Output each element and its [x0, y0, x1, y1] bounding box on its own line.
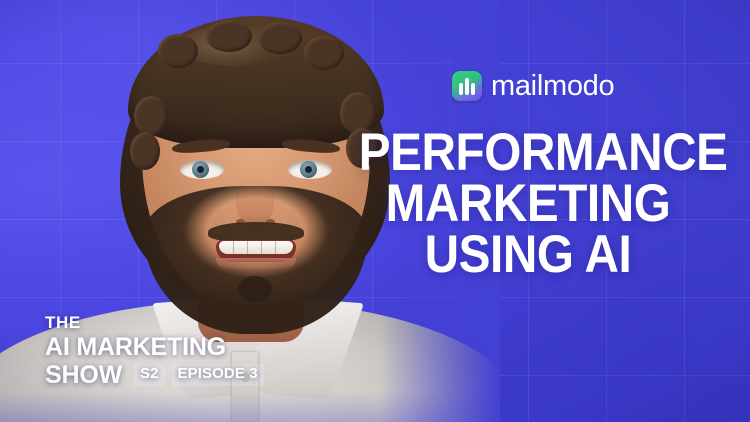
tooth-gap: [275, 241, 276, 254]
logo-bar-1: [459, 83, 463, 95]
tooth-gap: [247, 241, 248, 254]
brand-lockup: mailmodo: [452, 71, 614, 101]
hair-curl: [258, 22, 302, 54]
eye-left: [180, 160, 224, 179]
show-title-label: AI MARKETING: [45, 334, 264, 361]
lower-lip: [216, 258, 296, 270]
hair-curl: [134, 96, 168, 136]
headline-line-3: USING AI: [359, 230, 697, 281]
hair-curl: [206, 20, 252, 52]
eye-right: [288, 160, 332, 179]
tooth-gap: [261, 241, 262, 254]
episode-badge: EPISODE 3: [172, 364, 264, 386]
show-subtitle-row: SHOW S2 EPISODE 3: [45, 362, 264, 389]
season-badge: S2: [134, 364, 165, 386]
iris-right: [300, 161, 317, 178]
headline-line-1: PERFORMANCE: [359, 128, 697, 179]
headline: PERFORMANCE MARKETING USING AI: [359, 128, 697, 281]
pupil-left: [197, 166, 204, 173]
hair-curl: [130, 132, 160, 170]
logo-bar-3: [471, 83, 475, 95]
pupil-right: [305, 166, 312, 173]
chin-beard-patch: [238, 276, 272, 302]
iris-left: [192, 161, 209, 178]
hair-curl: [304, 36, 344, 70]
photo-edge-fade-bottom: [0, 392, 500, 422]
show-identity-block: THE AI MARKETING SHOW S2 EPISODE 3: [45, 314, 264, 388]
hair-curl: [158, 34, 198, 68]
headline-line-2: MARKETING: [359, 179, 697, 230]
teeth: [219, 241, 293, 254]
logo-bar-2: [465, 78, 469, 95]
show-prefix-label: THE: [45, 314, 264, 332]
tooth-gap: [233, 241, 234, 254]
video-thumbnail: mailmodo PERFORMANCE MARKETING USING AI …: [0, 0, 750, 422]
mustache: [208, 222, 304, 242]
brand-wordmark: mailmodo: [491, 72, 614, 101]
show-word-label: SHOW: [45, 362, 122, 389]
mailmodo-logo-icon: [452, 71, 482, 101]
